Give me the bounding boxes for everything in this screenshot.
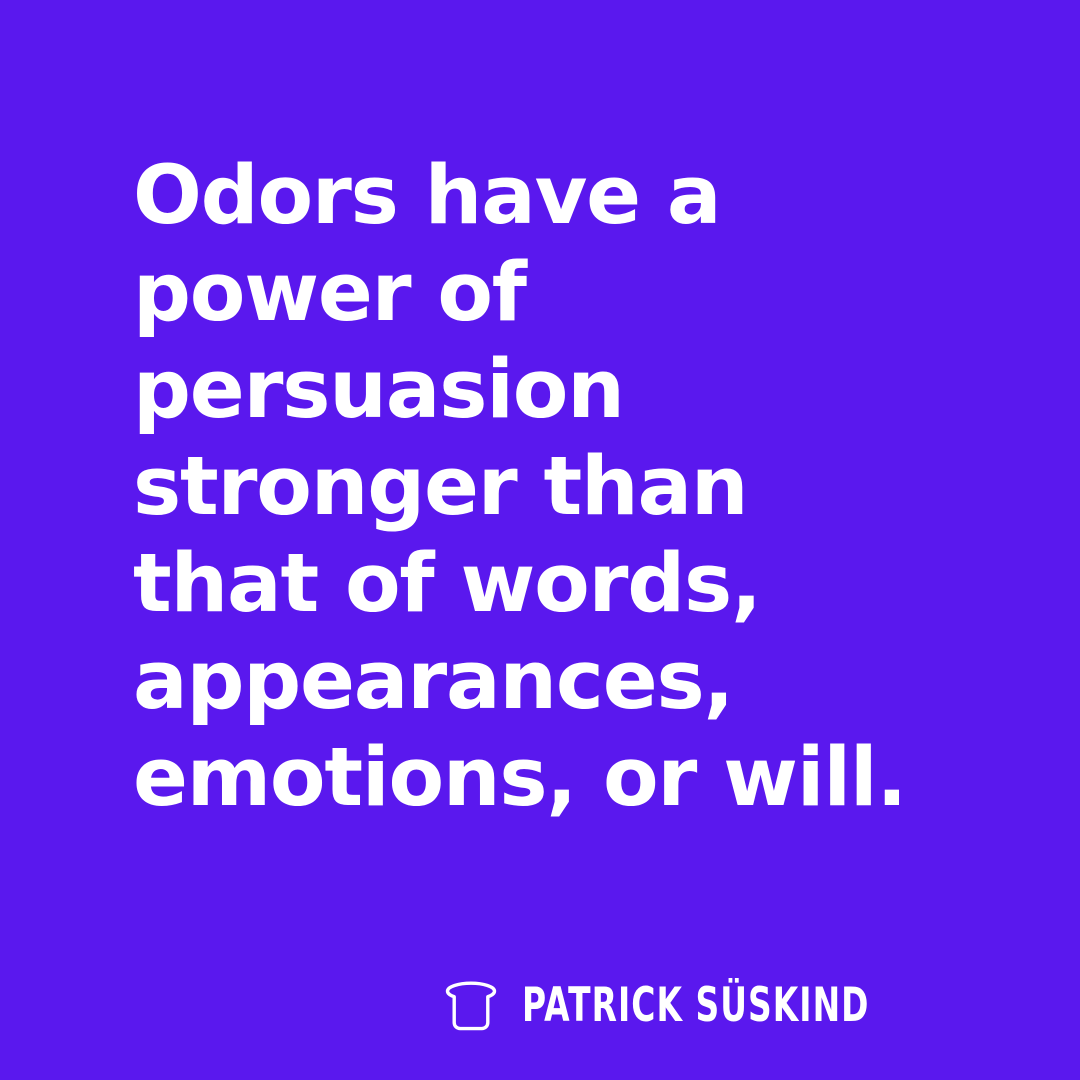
quote-line-2: power of bbox=[133, 245, 1013, 342]
author-name: PATRICK SÜSKIND bbox=[522, 981, 870, 1031]
quote-line-5: that of words, bbox=[133, 536, 1013, 633]
quote-line-6: appearances, bbox=[133, 633, 1013, 730]
attribution: PATRICK SÜSKIND bbox=[442, 980, 1019, 1032]
quote-line-3: persuasion bbox=[133, 342, 1013, 439]
quote-text-block: Odors have a power of persuasion stronge… bbox=[133, 148, 1013, 827]
quote-card: Odors have a power of persuasion stronge… bbox=[0, 0, 1080, 1080]
quote-line-1: Odors have a bbox=[133, 148, 1013, 245]
quote-line-7: emotions, or will. bbox=[133, 730, 1013, 827]
quote-line-4: stronger than bbox=[133, 439, 1013, 536]
bread-slice-icon bbox=[442, 980, 500, 1032]
